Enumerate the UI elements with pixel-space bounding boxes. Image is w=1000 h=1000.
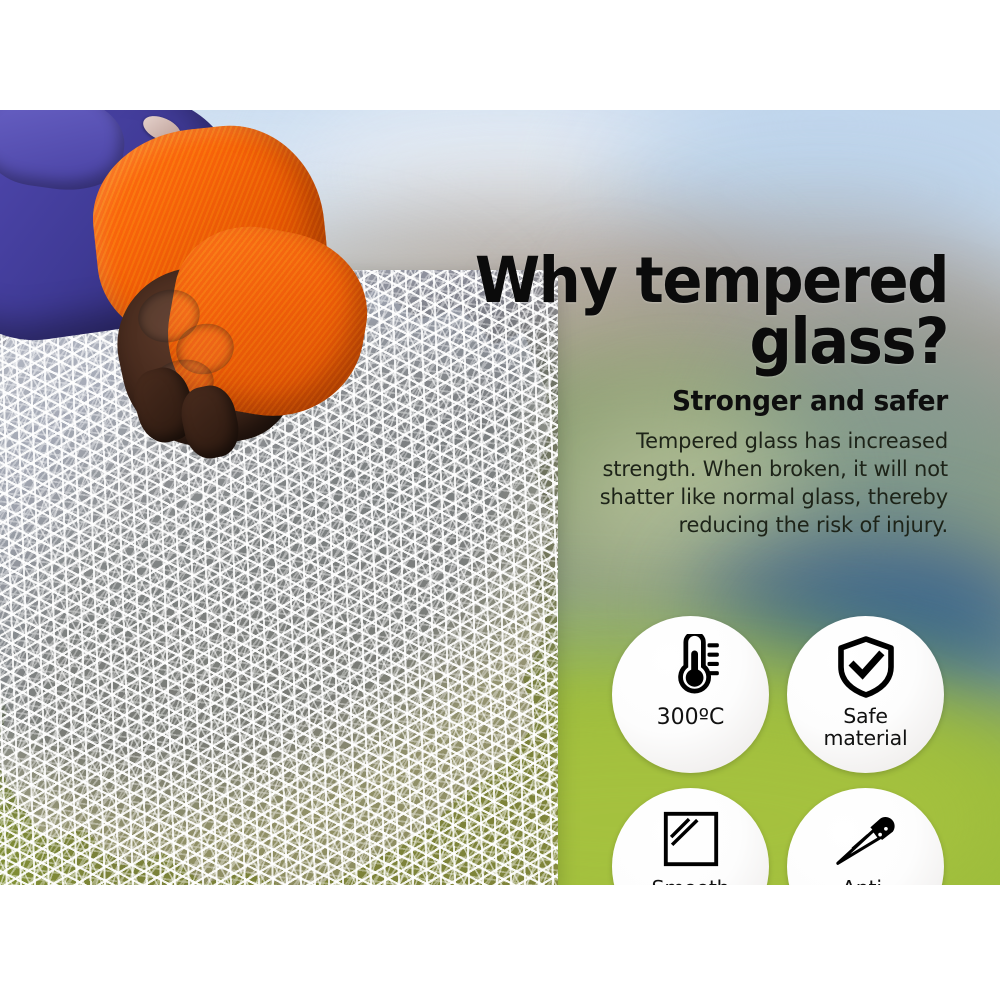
body-line-1: Tempered glass has increased: [636, 429, 948, 453]
shield-check-icon: [834, 630, 898, 704]
body-line-4: reducing the risk of injury.: [678, 513, 948, 537]
headline-line-2: glass?: [750, 305, 948, 378]
hero-photo: Why tempered glass? Stronger and safer T…: [0, 110, 1000, 885]
badge-caption: Anti- scratch: [829, 878, 903, 885]
feature-badge-grid: 300ºC Safe material: [612, 616, 952, 885]
page-title: Why tempered glass?: [459, 250, 948, 372]
thermometer-icon: [658, 630, 724, 704]
knife-icon: [831, 802, 901, 876]
badge-caption: 300ºC: [657, 706, 725, 729]
top-white-margin: [0, 0, 1000, 110]
badge-caption: Smooth surface: [652, 878, 730, 885]
arm-and-glove: [0, 110, 470, 450]
body-line-2: strength. When broken, it will not: [602, 457, 948, 481]
subheadline: Stronger and safer: [449, 386, 948, 416]
feature-badge-anti-scratch: Anti- scratch: [787, 788, 944, 885]
body-paragraph: Tempered glass has increased strength. W…: [428, 428, 948, 540]
product-feature-banner: Why tempered glass? Stronger and safer T…: [0, 0, 1000, 1000]
marketing-copy: Why tempered glass? Stronger and safer T…: [428, 250, 948, 540]
badge-caption: Safe material: [824, 706, 908, 749]
feature-badge-safe-material: Safe material: [787, 616, 944, 773]
body-line-3: shatter like normal glass, thereby: [600, 485, 948, 509]
glass-pane-icon: [660, 802, 722, 876]
bottom-white-margin: [0, 885, 1000, 1000]
feature-badge-smooth-surface: Smooth surface: [612, 788, 769, 885]
feature-badge-temperature: 300ºC: [612, 616, 769, 773]
